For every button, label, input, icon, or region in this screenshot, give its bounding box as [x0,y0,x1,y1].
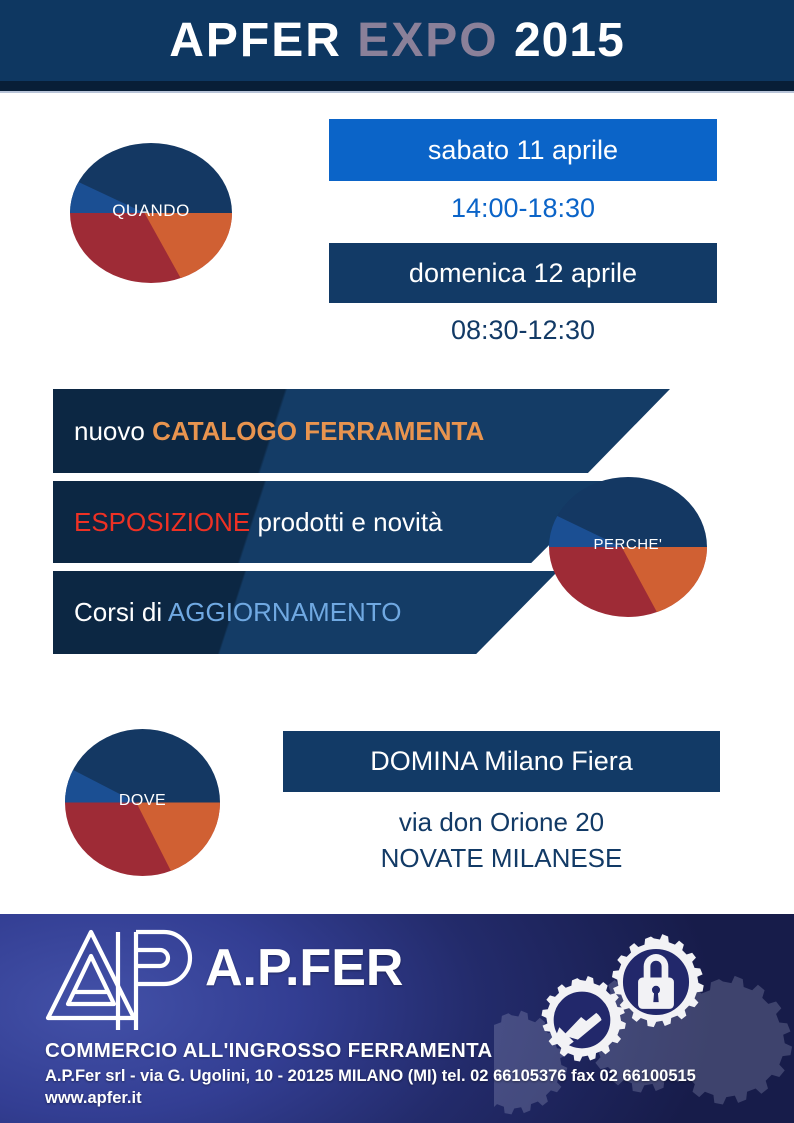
reason-banner-catalog: nuovo CATALOGO FERRAMENTA [53,389,670,473]
dove-badge-pie: DOVE [65,729,220,876]
perche-badge-pie: PERCHE' [549,477,707,617]
footer-website[interactable]: www.apfer.it [45,1089,142,1108]
footer-brand: A.P.FER [205,938,403,998]
footer-tagline: COMMERCIO ALL'INGROSSO FERRAMENTA [45,1039,493,1063]
quando-badge-label: QUANDO [70,201,232,221]
reason-banner-exhibition: ESPOSIZIONE prodotti e novità [53,481,613,563]
venue-name: DOMINA Milano Fiera [370,746,633,777]
banner-highlight: ESPOSIZIONE [74,507,250,537]
title-brand: APFER [169,17,342,65]
footer: A.P.FER COMMERCIO ALL'INGROSSO FERRAMENT… [0,914,794,1123]
quando-badge-pie: QUANDO [70,143,232,283]
perche-badge-label: PERCHE' [549,536,707,553]
banner-highlight: CATALOGO FERRAMENTA [152,416,484,446]
header-accent-stripe [0,81,794,91]
footer-address: A.P.Fer srl - via G. Ugolini, 10 - 20125… [45,1067,696,1086]
header-hairline [0,91,794,93]
page-title: APFER EXPO 2015 [0,0,794,81]
title-year: 2015 [514,17,625,65]
day2-box: domenica 12 aprile [329,243,717,303]
poster-root: APFER EXPO 2015 QUANDO sabato 11 aprile … [0,0,794,1123]
reason-banner-training: Corsi di AGGIORNAMENTO [53,571,558,654]
day2-label: domenica 12 aprile [409,258,637,289]
banner-prefix: Corsi di [74,597,168,627]
footer-decoration [494,914,794,1123]
banner-text: ESPOSIZIONE prodotti e novità [53,507,443,538]
banner-prefix: nuovo [74,416,152,446]
venue-city: NOVATE MILANESE [283,843,720,874]
banner-text: Corsi di AGGIORNAMENTO [53,597,401,628]
day1-box: sabato 11 aprile [329,119,717,181]
banner-highlight: AGGIORNAMENTO [168,597,402,627]
banner-suffix: prodotti e novità [250,507,442,537]
banner-text: nuovo CATALOGO FERRAMENTA [53,416,484,447]
dove-badge-label: DOVE [65,792,220,810]
day1-label: sabato 11 aprile [428,135,618,166]
title-expo: EXPO [357,17,498,65]
venue-street: via don Orione 20 [283,807,720,838]
ap-monogram-logo [42,926,202,1034]
venue-box: DOMINA Milano Fiera [283,731,720,792]
day2-time: 08:30-12:30 [329,315,717,346]
day1-time: 14:00-18:30 [329,193,717,224]
